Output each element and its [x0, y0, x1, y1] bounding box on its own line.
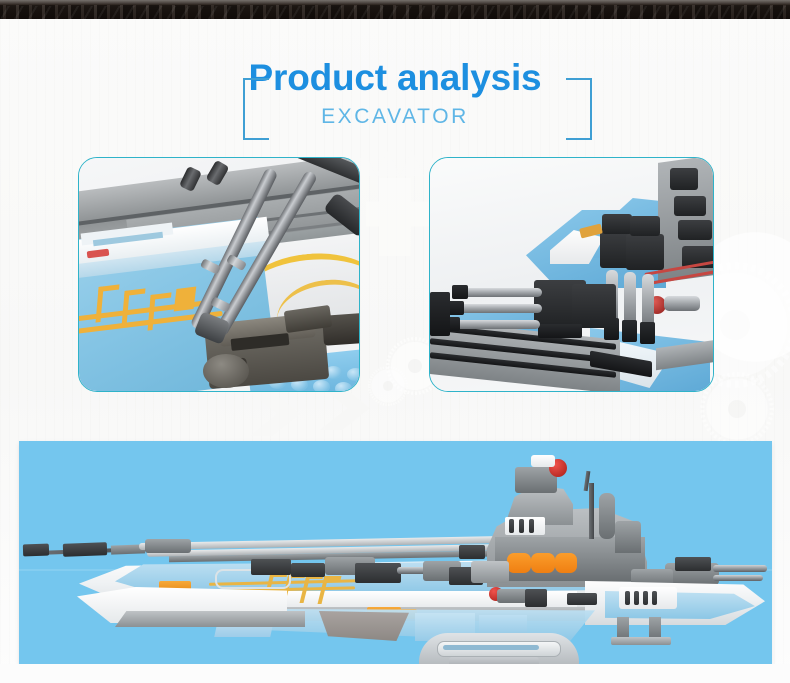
top-bar-hatch-pattern [0, 6, 790, 19]
left-bracket [243, 78, 287, 140]
gear-watermark-left [368, 366, 408, 406]
page-title-block: Product analysis EXCAVATOR [0, 56, 790, 148]
top-decorative-bar [0, 0, 790, 19]
chevron-watermark-center [320, 386, 406, 430]
product-analysis-page: Product analysis EXCAVATOR [0, 0, 790, 683]
page-subtitle: EXCAVATOR [0, 104, 790, 130]
chevron-watermark-lower-left [250, 392, 336, 436]
full-product-photo[interactable] [19, 441, 772, 664]
detail-photo-left[interactable] [78, 157, 360, 392]
brick-watermark-center [366, 178, 438, 256]
page-title: Product analysis [0, 56, 790, 100]
detail-photo-left-image [79, 158, 359, 391]
right-bracket [548, 78, 592, 140]
detail-photo-right-image [430, 158, 713, 391]
top-bar-highlight [0, 0, 790, 5]
detail-photo-right[interactable] [429, 157, 714, 392]
bottom-whitespace [0, 664, 790, 683]
